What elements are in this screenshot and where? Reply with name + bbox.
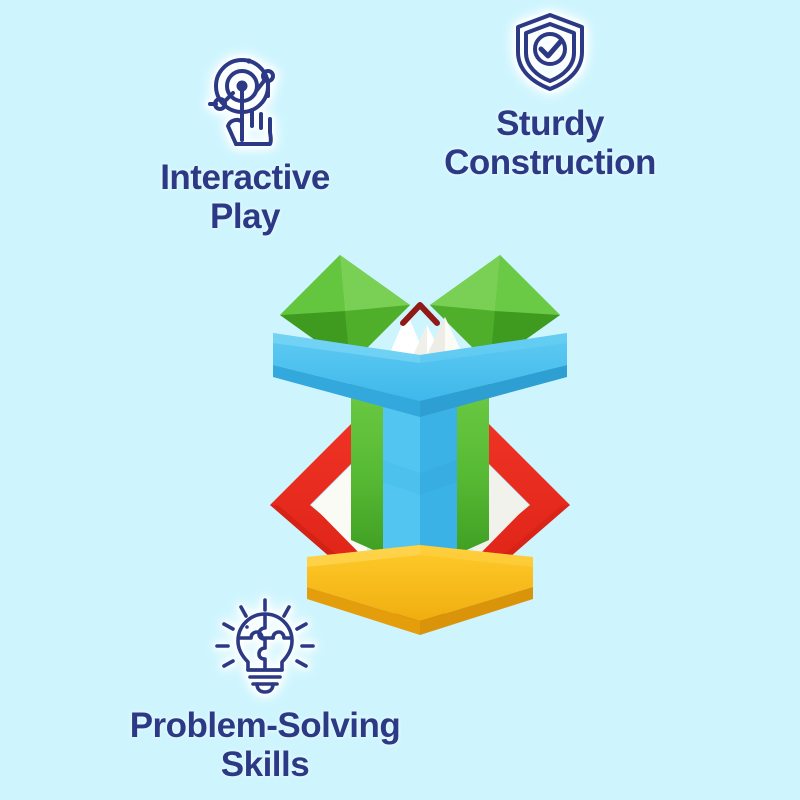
- shield-check-icon: [510, 10, 590, 94]
- feature-label: Sturdy Construction: [444, 104, 656, 182]
- hand-touch-network-icon: [202, 52, 288, 148]
- feature-label: Interactive Play: [160, 158, 330, 236]
- lightbulb-puzzle-icon: [213, 596, 317, 696]
- feature-problem-solving-skills: Problem-Solving Skills: [100, 596, 430, 784]
- infographic-canvas: Interactive Play Sturdy Construction: [0, 0, 800, 800]
- feature-interactive-play: Interactive Play: [110, 52, 380, 236]
- product-image: [255, 205, 585, 640]
- feature-label: Problem-Solving Skills: [130, 706, 401, 784]
- red-center-peak: [403, 305, 437, 323]
- feature-sturdy-construction: Sturdy Construction: [400, 10, 700, 182]
